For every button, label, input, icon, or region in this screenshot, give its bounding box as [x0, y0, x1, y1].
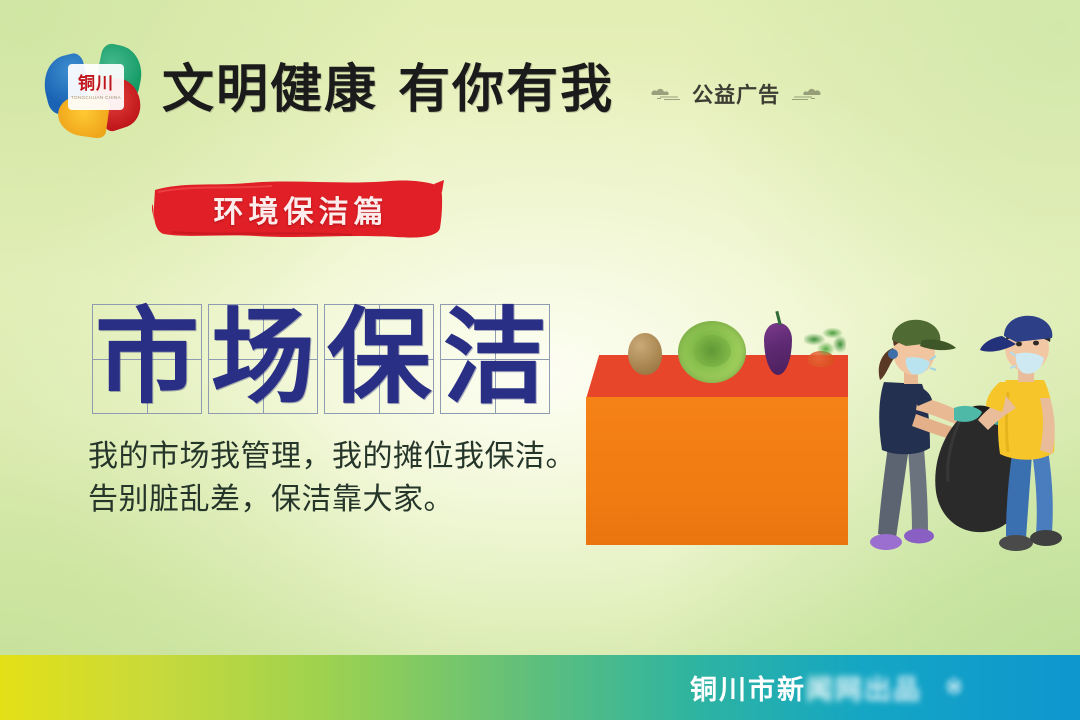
- section-banner: 环境保洁篇: [152, 176, 444, 242]
- headline-char-2: 场: [209, 305, 317, 413]
- headline-char-1: 市: [93, 305, 201, 413]
- character-cell-3: 保: [324, 304, 434, 414]
- body-copy: 我的市场我管理，我的摊位我保洁。 告别脏乱差，保洁靠大家。: [88, 436, 576, 521]
- section-banner-label: 环境保洁篇: [152, 176, 444, 242]
- logo-pinyin: TONGCHUAN CHINA: [71, 95, 121, 100]
- bottom-bar-text-visible: 铜川市新: [690, 675, 806, 705]
- vegetable-cabbage: [678, 321, 746, 383]
- bottom-gradient-bar: 铜川市新闻网出品 ※: [0, 655, 1080, 720]
- tongchuan-city-logo: 铜川 TONGCHUAN CHINA: [42, 40, 146, 140]
- poster-header: 铜川 TONGCHUAN CHINA 文明健康 有你有我 公益广告: [42, 40, 824, 140]
- body-copy-line-1: 我的市场我管理，我的摊位我保洁。: [88, 436, 576, 479]
- logo-city-name: 铜川: [78, 75, 114, 92]
- stall-front-panel: [586, 397, 848, 545]
- headline-character-grid: 市 场 保 洁: [92, 304, 550, 414]
- cloud-swirl-ornament-left: [648, 86, 682, 102]
- character-cell-2: 场: [208, 304, 318, 414]
- body-copy-line-2: 告别脏乱差，保洁靠大家。: [88, 479, 576, 522]
- cloud-swirl-ornament-right: [790, 86, 824, 102]
- vegetable-potato: [628, 333, 662, 375]
- logo-center-plate: 铜川 TONGCHUAN CHINA: [68, 64, 124, 110]
- two-volunteers-carrying-trash-bag: [866, 296, 1072, 560]
- character-cell-1: 市: [92, 304, 202, 414]
- character-cell-4: 洁: [440, 304, 550, 414]
- psa-group: 公益广告: [648, 79, 824, 109]
- vegetable-leafy-greens: [804, 321, 846, 361]
- psa-label: 公益广告: [692, 79, 780, 109]
- headline-char-3: 保: [325, 305, 433, 413]
- bottom-bar-mark: ※: [944, 673, 965, 702]
- bottom-bar-text: 铜川市新闻网出品: [690, 668, 922, 707]
- public-service-poster: 铜川 TONGCHUAN CHINA 文明健康 有你有我 公益广告 环: [0, 0, 1080, 720]
- poster-slogan: 文明健康 有你有我: [162, 64, 614, 116]
- headline-char-4: 洁: [441, 305, 549, 413]
- market-stall: [586, 355, 848, 545]
- bottom-bar-text-blurred: 闻网出品: [806, 675, 922, 705]
